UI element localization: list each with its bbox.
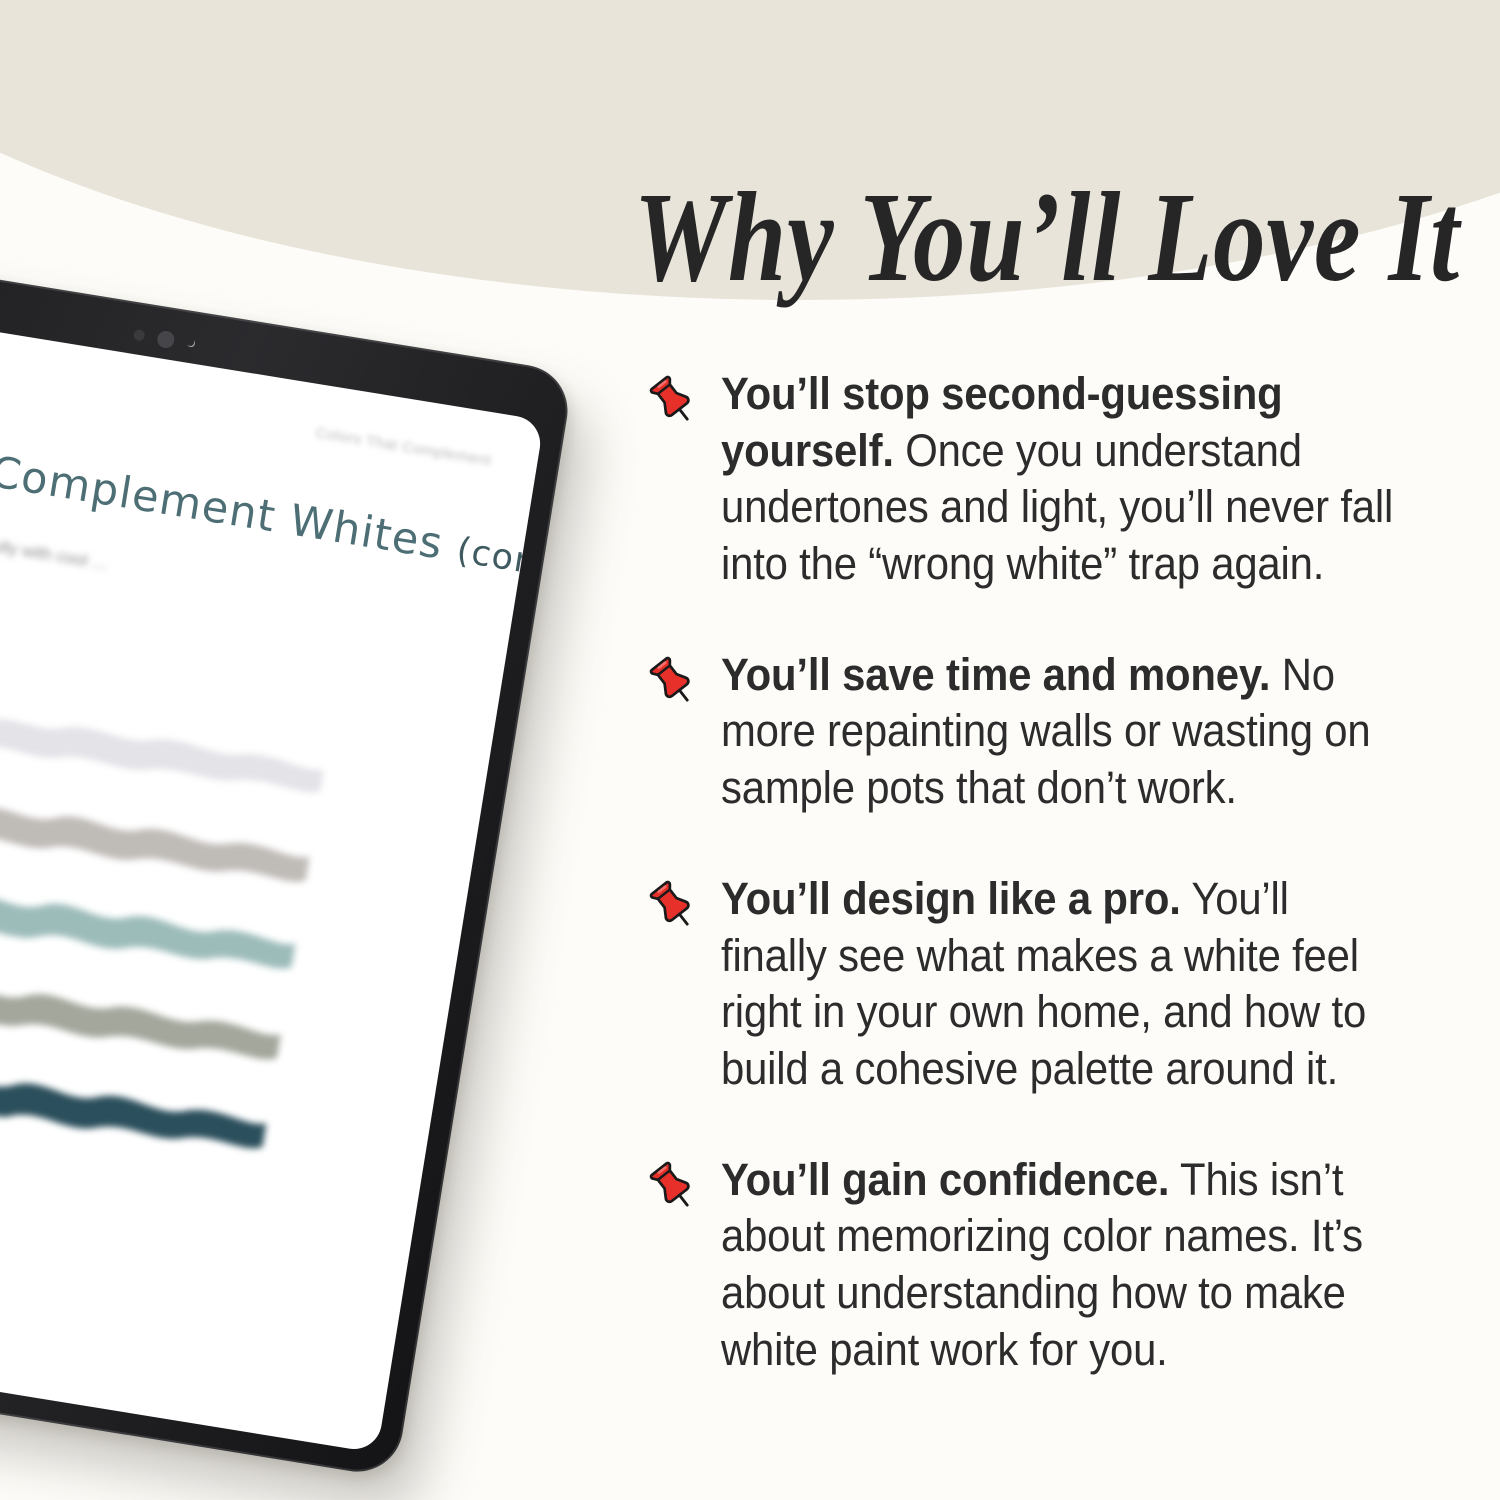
benefits-list: You’ll stop second-guessing yourself. On… (645, 366, 1455, 1378)
pushpin-icon (645, 879, 707, 933)
benefit-text: You’ll design like a pro. You’ll finally… (721, 871, 1404, 1098)
swatch-sage-teal (0, 869, 303, 982)
tablet-mockup: Colors That Complement olors That Comple… (0, 242, 574, 1479)
pushpin-icon (645, 655, 707, 709)
benefit-lead: You’ll design like a pro. (721, 873, 1181, 924)
benefit-text: You’ll gain confidence. This isn’t about… (721, 1152, 1404, 1379)
paint-swatch-stack (0, 692, 331, 1203)
list-item: You’ll save time and money. No more repa… (645, 647, 1455, 817)
list-item: You’ll design like a pro. You’ll finally… (645, 871, 1455, 1098)
screen-content: Colors That Complement olors That Comple… (0, 297, 544, 1454)
pushpin-icon (645, 374, 707, 428)
swatch-warm-gray (0, 781, 317, 894)
benefit-text: You’ll stop second-guessing yourself. On… (721, 366, 1404, 593)
front-camera-icon (156, 329, 175, 348)
swatch-light-gray-blue (0, 692, 331, 805)
list-item: You’ll stop second-guessing yourself. On… (645, 366, 1455, 593)
screen-corner-note: Colors That Complement (315, 424, 493, 469)
swatch-gray-green (0, 958, 288, 1071)
swatch-deep-teal (0, 1047, 274, 1160)
list-item: You’ll gain confidence. This isn’t about… (645, 1152, 1455, 1379)
benefit-lead: You’ll save time and money. (721, 649, 1270, 700)
indicator-light-icon (186, 339, 195, 348)
sensor-dot-icon (133, 328, 146, 341)
tablet-screen: Colors That Complement olors That Comple… (0, 297, 544, 1454)
benefit-lead: You’ll gain confidence. (721, 1154, 1169, 1205)
page-title: Why You’ll Love It (263, 170, 1460, 304)
pushpin-icon (645, 1160, 707, 1214)
benefit-text: You’ll save time and money. No more repa… (721, 647, 1404, 817)
